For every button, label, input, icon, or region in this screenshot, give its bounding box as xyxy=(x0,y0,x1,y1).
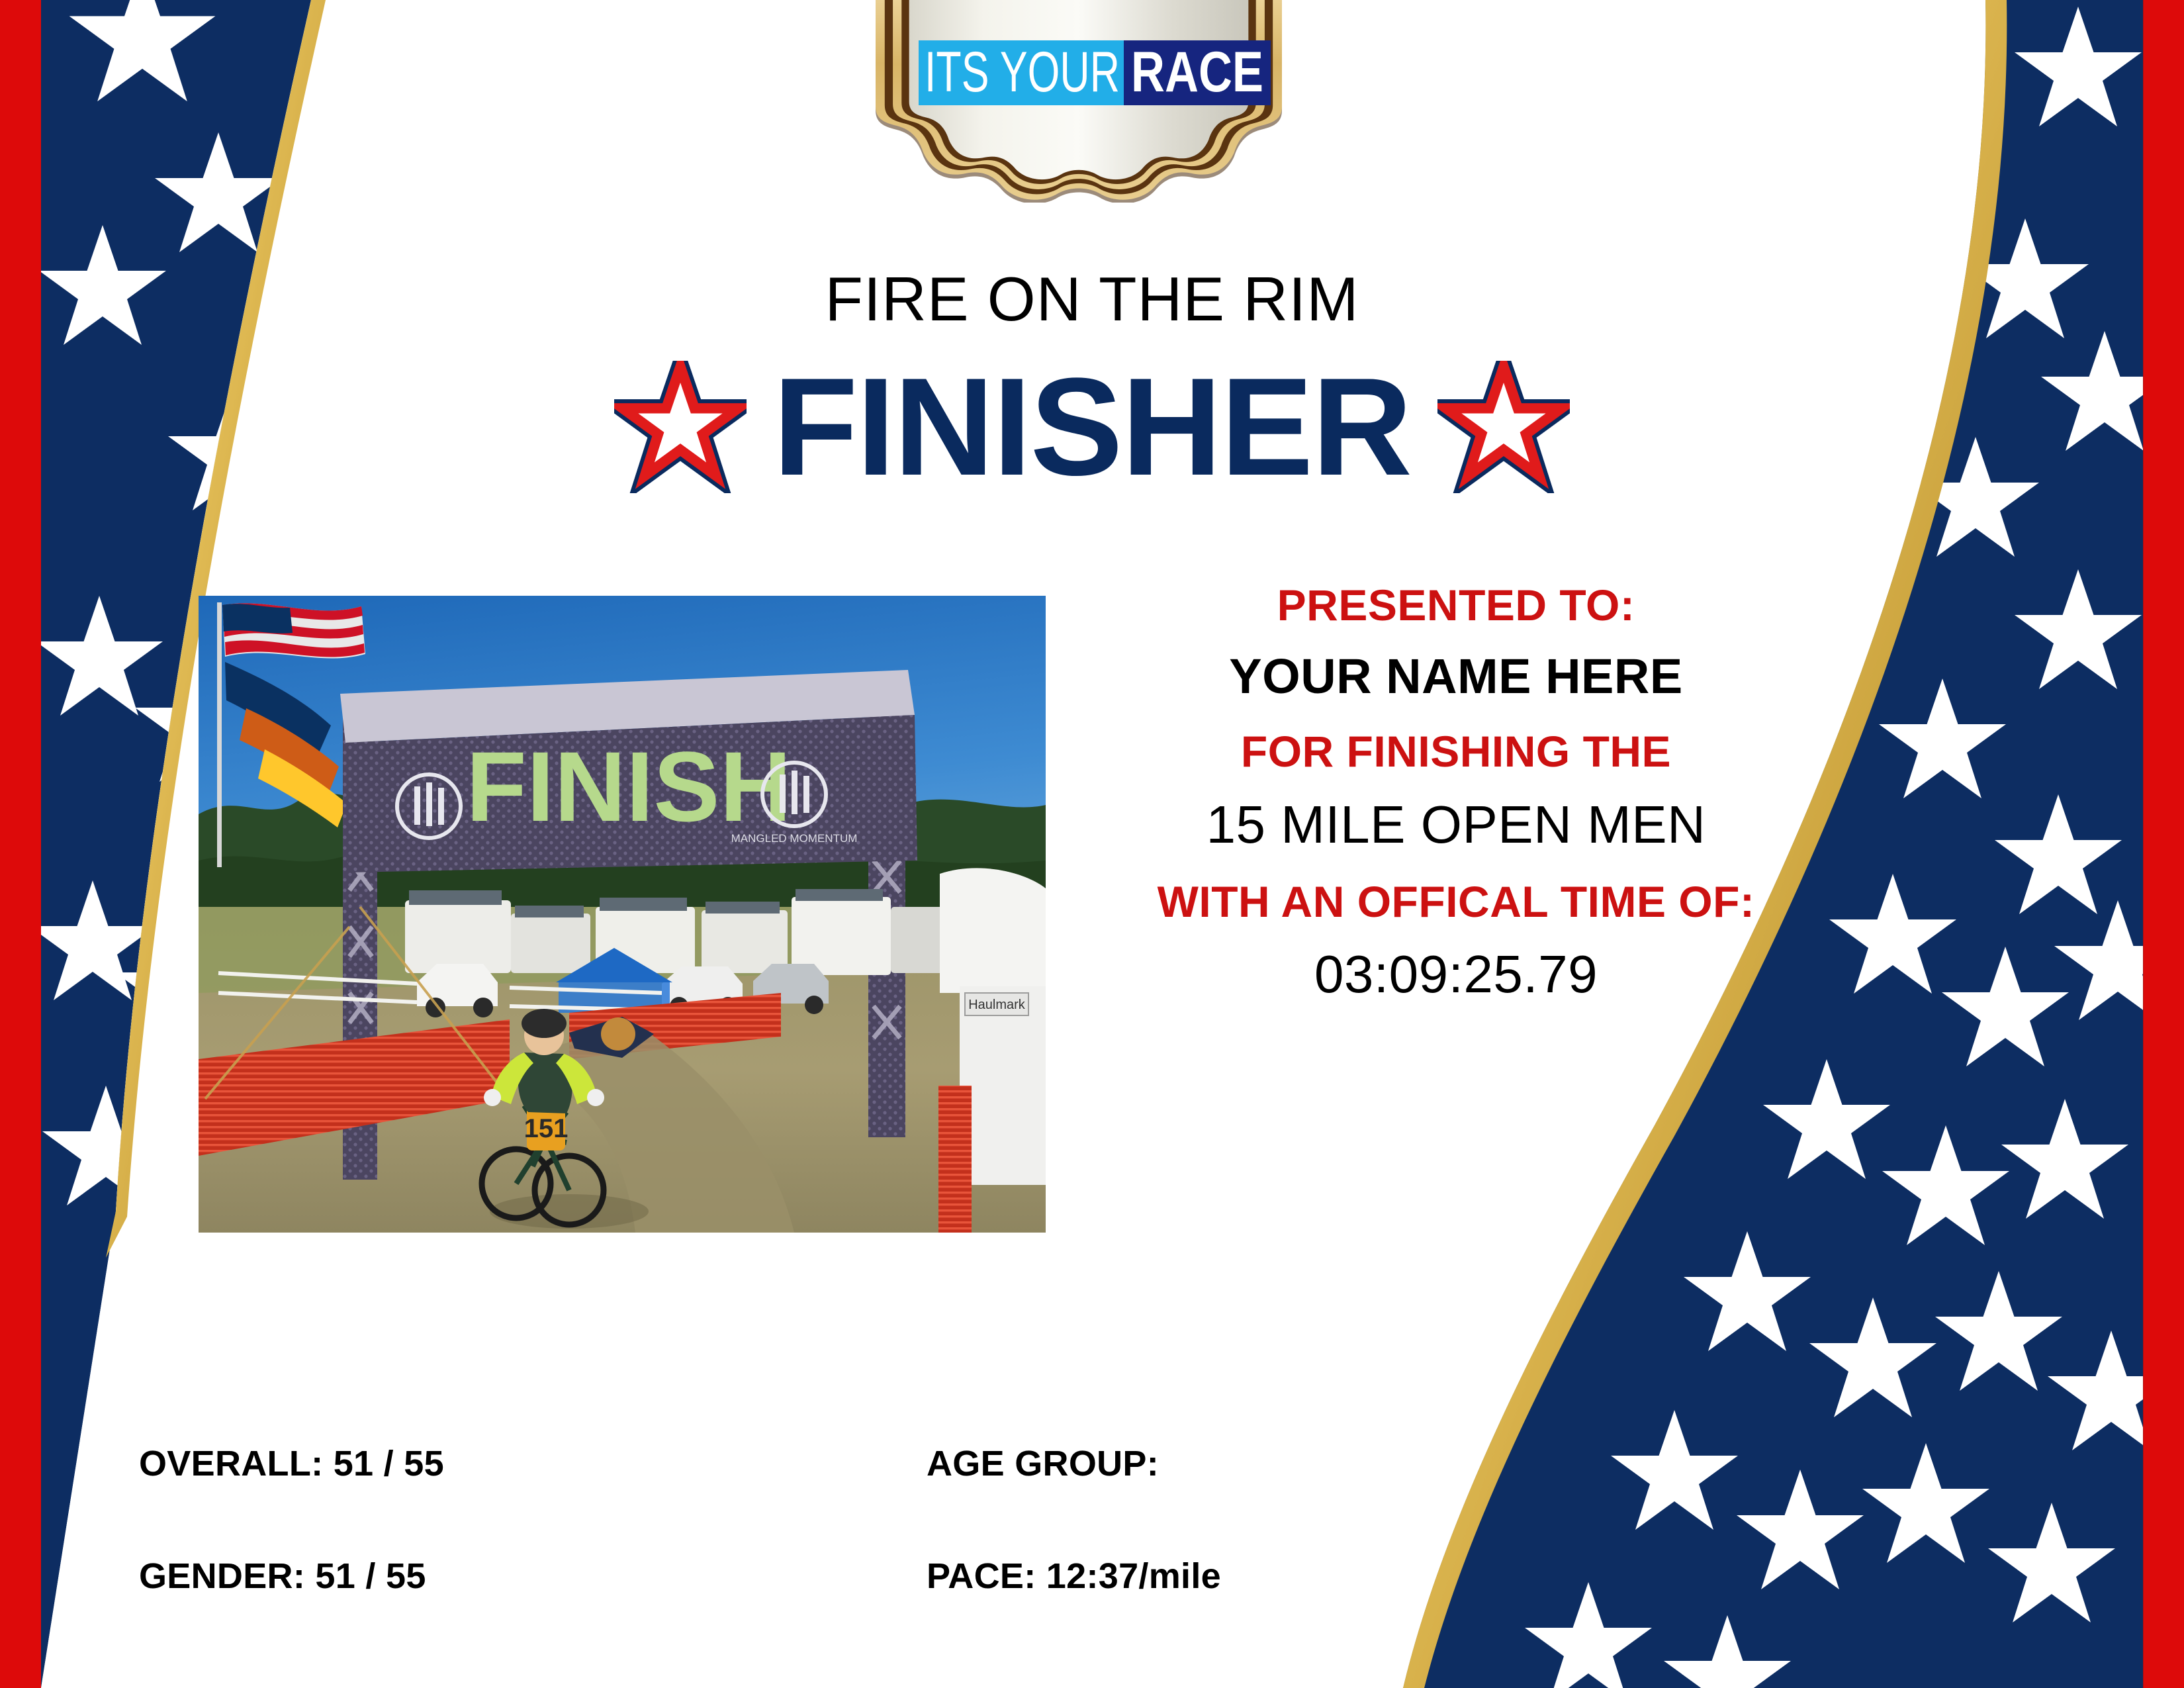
white-tent xyxy=(940,868,1046,993)
decorative-star-left-icon xyxy=(614,361,747,493)
award-details: PRESENTED TO: YOUR NAME HERE FOR FINISHI… xyxy=(1085,583,1827,1002)
overall-placement: OVERALL: 51 / 55 xyxy=(139,1443,927,1484)
sponsor-name-text: MANGLED MOMENTUM xyxy=(731,832,858,845)
for-finishing-label: FOR FINISHING THE xyxy=(1085,729,1827,774)
recipient-name: YOUR NAME HERE xyxy=(1085,651,1827,702)
red-barrier xyxy=(938,1086,972,1233)
bib-number-text: 151 xyxy=(524,1114,569,1143)
award-title-row: FINISHER xyxy=(0,357,2184,496)
gender-placement: GENDER: 51 / 55 xyxy=(139,1556,927,1597)
usa-flag-in-photo xyxy=(222,603,365,658)
pace-value: PACE: 12:37/mile xyxy=(927,1556,1221,1597)
official-time-label: WITH AN OFFICAL TIME OF: xyxy=(1085,879,1827,925)
trailer-brand-text: Haulmark xyxy=(968,998,1026,1012)
result-stats: OVERALL: 51 / 55 AGE GROUP: GENDER: 51 /… xyxy=(139,1443,1396,1668)
its-your-race-logo: ITS YOUR RACE xyxy=(864,0,1294,203)
official-time-value: 03:09:25.79 xyxy=(1085,947,1827,1002)
stats-row-2: GENDER: 51 / 55 PACE: 12:37/mile xyxy=(139,1556,1396,1597)
logo-race-text: RACE xyxy=(1131,40,1263,104)
race-name: FIRE ON THE RIM xyxy=(0,263,2184,335)
finish-banner-text: FINISH xyxy=(466,731,792,842)
finisher-certificate: ITS YOUR RACE FIRE ON THE RIM FINISHER xyxy=(0,0,2184,1688)
event-category: 15 MILE OPEN MEN xyxy=(1085,797,1827,853)
left-red-stripe xyxy=(0,0,41,1688)
award-title: FINISHER xyxy=(773,357,1411,496)
right-red-stripe xyxy=(2143,0,2184,1688)
stats-row-1: OVERALL: 51 / 55 AGE GROUP: xyxy=(139,1443,1396,1484)
logo-wordmark: ITS YOUR RACE xyxy=(919,40,1271,105)
haulmark-trailer: Haulmark xyxy=(960,986,1046,1185)
age-group-placement: AGE GROUP: xyxy=(927,1443,1159,1484)
logo-its-your-text: ITS YOUR xyxy=(925,40,1120,104)
finish-line-photo: FINISH MANGLED MOMENTUM xyxy=(199,596,1046,1233)
decorative-star-right-icon xyxy=(1437,361,1570,493)
presented-to-label: PRESENTED TO: xyxy=(1085,583,1827,628)
